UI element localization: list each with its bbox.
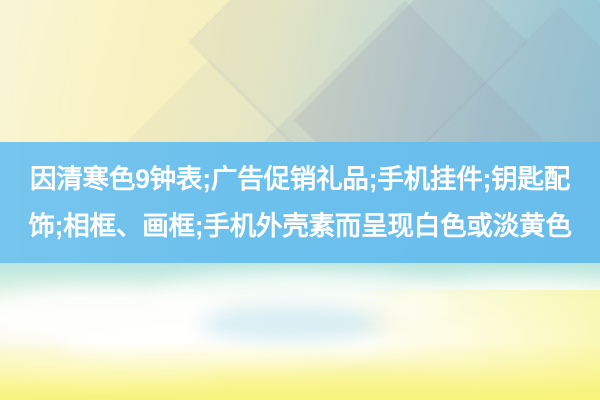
cloud-shape bbox=[390, 279, 600, 341]
cloud-shape bbox=[0, 355, 220, 389]
blue-text-band: 因清寒色9钟表;广告促销礼品;手机挂件;钥匙配 饰;相框、画框;手机外壳素而呈现… bbox=[0, 142, 600, 263]
banner-text-line-1: 因清寒色9钟表;广告促销礼品;手机挂件;钥匙配 bbox=[20, 156, 580, 203]
cloud-shape bbox=[430, 353, 600, 387]
gradient-sheen-overlay bbox=[0, 0, 600, 142]
cloud-shape bbox=[60, 321, 380, 371]
cloud-shape bbox=[200, 307, 380, 341]
bottom-sky-region bbox=[0, 263, 600, 400]
decorative-banner: 因清寒色9钟表;广告促销礼品;手机挂件;钥匙配 饰;相框、画框;手机外壳素而呈现… bbox=[0, 0, 600, 400]
cloud-shape bbox=[330, 325, 600, 371]
cloud-shape bbox=[150, 273, 450, 325]
banner-text-line-2: 饰;相框、画框;手机外壳素而呈现白色或淡黄色 bbox=[20, 203, 580, 250]
chevron-facet-shape bbox=[257, 1, 554, 142]
warm-glow-overlay-right bbox=[280, 290, 600, 400]
chevron-facet-shape bbox=[294, 0, 600, 142]
warm-glow-overlay bbox=[0, 342, 600, 400]
chevron-facet-shape bbox=[376, 6, 600, 142]
top-gradient-region bbox=[0, 0, 600, 142]
cloud-shape bbox=[0, 287, 230, 345]
chevron-facet-shape bbox=[83, 59, 338, 142]
chevron-facet-shape bbox=[188, 0, 527, 142]
